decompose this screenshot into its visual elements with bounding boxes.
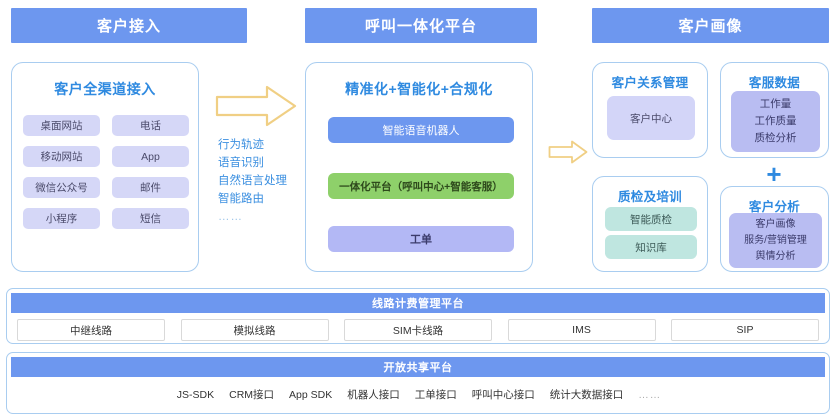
flow-keyword: 智能路由 <box>218 190 304 208</box>
plus-symbol: + <box>766 161 781 187</box>
line-item[interactable]: SIP <box>671 319 819 341</box>
panel-open-platform: 开放共享平台 JS-SDK CRM接口 App SDK 机器人接口 工单接口 呼… <box>6 352 830 414</box>
crm-item-label: 客户中心 <box>630 111 672 126</box>
cs-data-item-label: 工作量 <box>760 97 792 112</box>
line-item[interactable]: 模拟线路 <box>181 319 329 341</box>
platform-item-label: 一体化平台（呼叫中心+智能客服） <box>339 179 503 194</box>
panel-title-bar: 线路计费管理平台 <box>11 293 825 313</box>
api-item[interactable]: CRM接口 <box>229 387 274 402</box>
analysis-item-label: 客户画像 <box>756 217 796 232</box>
channel-chip-grid: 桌面网站 电话 移动网站 App 微信公众号 邮件 小程序 短信 <box>23 115 189 229</box>
banner-label: 客户画像 <box>678 15 742 36</box>
panel-title: 线路计费管理平台 <box>372 295 464 311</box>
platform-item-label: 工单 <box>410 231 432 247</box>
card-title: 客户关系管理 <box>593 72 707 91</box>
api-item-row: JS-SDK CRM接口 App SDK 机器人接口 工单接口 呼叫中心接口 统… <box>7 387 831 402</box>
banner-call-platform: 呼叫一体化平台 <box>305 8 537 43</box>
panel-line-billing: 线路计费管理平台 中继线路 模拟线路 SIM卡线路 IMS SIP <box>6 288 830 344</box>
channel-chip[interactable]: 邮件 <box>112 177 189 198</box>
card-title: 客服数据 <box>721 72 828 91</box>
api-item[interactable]: 机器人接口 <box>347 387 400 402</box>
qa-item-label: 智能质检 <box>630 212 672 227</box>
card-title: 精准化+智能化+合规化 <box>306 79 532 99</box>
qa-item-label: 知识库 <box>635 240 667 255</box>
api-item[interactable]: App SDK <box>289 389 332 401</box>
analysis-item-box[interactable]: 客户画像 服务/营销管理 舆情分析 <box>729 213 822 268</box>
flow-keyword: 自然语言处理 <box>218 172 304 190</box>
card-title: 质检及培训 <box>593 186 707 205</box>
card-crm: 客户关系管理 客户中心 <box>592 62 708 158</box>
card-omni-channel-access: 客户全渠道接入 桌面网站 电话 移动网站 App 微信公众号 邮件 小程序 短信 <box>11 62 199 272</box>
analysis-item-label: 舆情分析 <box>756 249 796 264</box>
banner-label: 呼叫一体化平台 <box>365 15 477 36</box>
panel-title: 开放共享平台 <box>384 359 453 375</box>
api-item[interactable]: 工单接口 <box>415 387 457 402</box>
banner-label: 客户接入 <box>97 15 161 36</box>
qa-item-knowledge-base[interactable]: 知识库 <box>605 235 697 259</box>
platform-item-label: 智能语音机器人 <box>383 122 460 138</box>
channel-chip[interactable]: App <box>112 146 189 167</box>
platform-item-unified-platform[interactable]: 一体化平台（呼叫中心+智能客服） <box>328 173 514 199</box>
channel-chip[interactable]: 微信公众号 <box>23 177 100 198</box>
line-item[interactable]: IMS <box>508 319 656 341</box>
panel-title-bar: 开放共享平台 <box>11 357 825 377</box>
plus-icon: + <box>760 162 788 186</box>
channel-chip[interactable]: 桌面网站 <box>23 115 100 136</box>
flow-keyword-list: 行为轨迹 语音识别 自然语言处理 智能路由 …… <box>218 136 304 226</box>
card-customer-analysis: 客户分析 客户画像 服务/营销管理 舆情分析 <box>720 186 829 272</box>
arrow-right-icon <box>215 85 297 127</box>
card-integrated-platform: 精准化+智能化+合规化 智能语音机器人 一体化平台（呼叫中心+智能客服） 工单 <box>305 62 533 272</box>
api-item[interactable]: 呼叫中心接口 <box>472 387 535 402</box>
flow-keyword: 语音识别 <box>218 154 304 172</box>
cs-data-item-label: 质检分析 <box>755 131 797 146</box>
platform-item-ticket[interactable]: 工单 <box>328 226 514 252</box>
card-qa-training: 质检及培训 智能质检 知识库 <box>592 176 708 272</box>
flow-keyword-ellipsis: …… <box>218 208 304 226</box>
banner-customer-access: 客户接入 <box>11 8 247 43</box>
cs-data-item-label: 工作质量 <box>755 114 797 129</box>
card-title: 客户全渠道接入 <box>12 79 198 99</box>
crm-item-box[interactable]: 客户中心 <box>607 96 695 140</box>
channel-chip[interactable]: 电话 <box>112 115 189 136</box>
arrow-right-icon <box>548 140 588 164</box>
diagram-canvas: 客户接入 呼叫一体化平台 客户画像 客户全渠道接入 桌面网站 电话 移动网站 A… <box>0 0 840 420</box>
api-item[interactable]: 统计大数据接口 <box>550 387 624 402</box>
card-cs-data: 客服数据 工作量 工作质量 质检分析 <box>720 62 829 158</box>
line-item[interactable]: SIM卡线路 <box>344 319 492 341</box>
api-item[interactable]: JS-SDK <box>177 389 214 401</box>
api-item-ellipsis: …… <box>638 389 661 401</box>
flow-keyword: 行为轨迹 <box>218 136 304 154</box>
line-item-row: 中继线路 模拟线路 SIM卡线路 IMS SIP <box>17 319 819 339</box>
cs-data-item-box[interactable]: 工作量 工作质量 质检分析 <box>731 91 820 152</box>
analysis-item-label: 服务/营销管理 <box>744 233 807 248</box>
qa-item-smart-inspection[interactable]: 智能质检 <box>605 207 697 231</box>
platform-item-voice-robot[interactable]: 智能语音机器人 <box>328 117 514 143</box>
channel-chip[interactable]: 移动网站 <box>23 146 100 167</box>
line-item[interactable]: 中继线路 <box>17 319 165 341</box>
channel-chip[interactable]: 短信 <box>112 208 189 229</box>
channel-chip[interactable]: 小程序 <box>23 208 100 229</box>
banner-customer-profile: 客户画像 <box>592 8 829 43</box>
